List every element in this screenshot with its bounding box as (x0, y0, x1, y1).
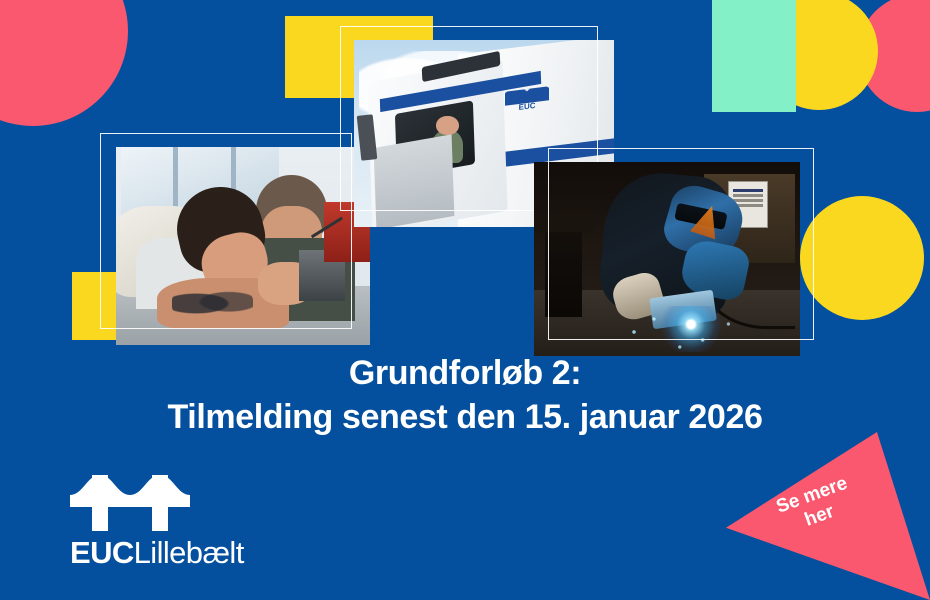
mechanics-workshop-photo (100, 133, 352, 329)
bridge-icon (70, 463, 190, 531)
pink-circle-top-left (0, 0, 128, 126)
euc-lillebaelt-logo: EUCLillebælt (70, 463, 244, 568)
headline-line-1: Grundforløb 2: (0, 352, 930, 396)
truck-euc-logo: EUC (505, 86, 549, 123)
mechanics-photo-image (116, 147, 370, 345)
headline: Grundforløb 2: Tilmelding senest den 15.… (0, 352, 930, 439)
mint-rect-top-right (712, 0, 796, 112)
promotional-banner: EUC Grundforløb 2: Tilmelding senest den… (0, 0, 930, 600)
logo-lillebaelt: Lillebælt (134, 535, 244, 570)
welder-photo-image (534, 162, 800, 356)
logo-euc: EUC (70, 535, 134, 570)
logo-wordmark: EUCLillebælt (70, 537, 244, 568)
yellow-circle-mid-right (800, 196, 924, 320)
welder-photo (548, 148, 814, 340)
se-mere-her-cta[interactable]: Se mere her (726, 432, 930, 600)
